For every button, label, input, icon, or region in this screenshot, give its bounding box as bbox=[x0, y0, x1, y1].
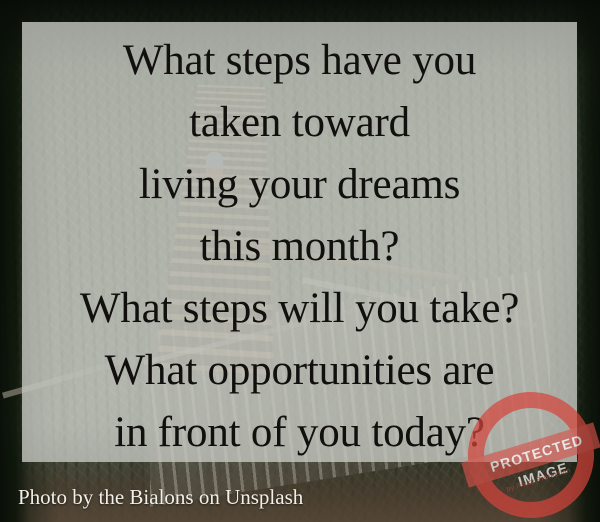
quote-line-4: this month? bbox=[200, 216, 400, 278]
quote-line-3: living your dreams bbox=[139, 154, 460, 216]
quote-image-canvas: What steps have you taken toward living … bbox=[0, 0, 600, 522]
quote-block: What steps have you taken toward living … bbox=[22, 22, 577, 462]
quote-line-7: in front of you today? bbox=[114, 402, 485, 464]
quote-line-5: What steps will you take? bbox=[80, 278, 519, 340]
photo-credit-caption: Photo by the Bialons on Unsplash bbox=[18, 484, 303, 510]
quote-line-1: What steps have you bbox=[123, 30, 476, 92]
quote-line-6: What opportunities are bbox=[105, 340, 495, 402]
quote-line-2: taken toward bbox=[189, 92, 410, 154]
